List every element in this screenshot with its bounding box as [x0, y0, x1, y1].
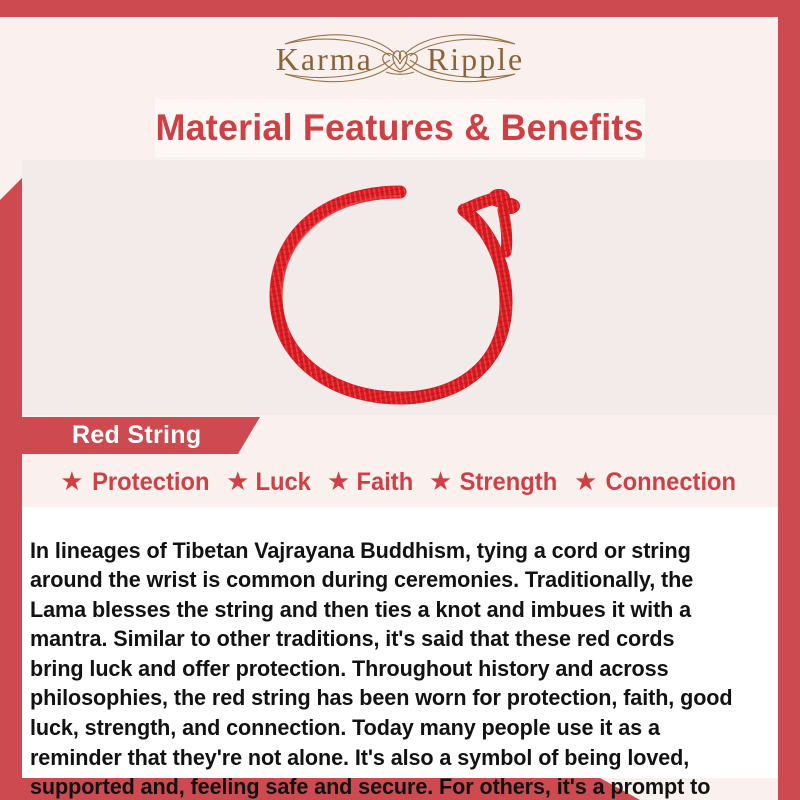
- section-ribbon: Red String: [22, 417, 260, 454]
- description-panel: In lineages of Tibetan Vajrayana Buddhis…: [22, 507, 778, 778]
- benefit-item-connection: ★ Connection: [569, 468, 745, 497]
- red-string-bracelet-image: [250, 170, 550, 415]
- benefit-label: Luck: [256, 468, 311, 497]
- star-icon: ★: [327, 468, 350, 494]
- page-title: Material Features & Benefits: [156, 107, 644, 149]
- star-icon: ★: [429, 468, 452, 494]
- benefit-label: Strength: [460, 468, 558, 497]
- description-text: In lineages of Tibetan Vajrayana Buddhis…: [30, 536, 733, 800]
- benefit-item-luck: ★ Luck: [221, 468, 318, 497]
- benefit-item-protection: ★ Protection: [55, 468, 217, 497]
- brand-logo: Karma Ripple: [0, 22, 800, 96]
- star-icon: ★: [60, 468, 83, 494]
- logo-word-karma: Karma: [276, 41, 373, 78]
- logo-word-ripple: Ripple: [427, 41, 524, 78]
- benefit-item-faith: ★ Faith: [322, 468, 420, 497]
- right-red-border: [778, 0, 800, 800]
- star-icon: ★: [574, 468, 597, 494]
- product-infographic-poster: Karma Ripple Material Features & Benefit…: [0, 0, 800, 800]
- product-image-panel: [22, 160, 778, 415]
- benefit-item-strength: ★ Strength: [424, 468, 565, 497]
- top-red-border: [0, 0, 800, 17]
- title-banner: Material Features & Benefits: [155, 99, 645, 157]
- benefits-row: ★ Protection ★ Luck ★ Faith ★ Strength ★…: [22, 462, 778, 502]
- star-icon: ★: [226, 468, 249, 494]
- benefit-label: Protection: [92, 468, 209, 497]
- left-red-border: [0, 178, 22, 800]
- benefit-label: Faith: [357, 468, 414, 497]
- section-ribbon-label: Red String: [72, 421, 201, 450]
- benefit-label: Connection: [606, 468, 737, 497]
